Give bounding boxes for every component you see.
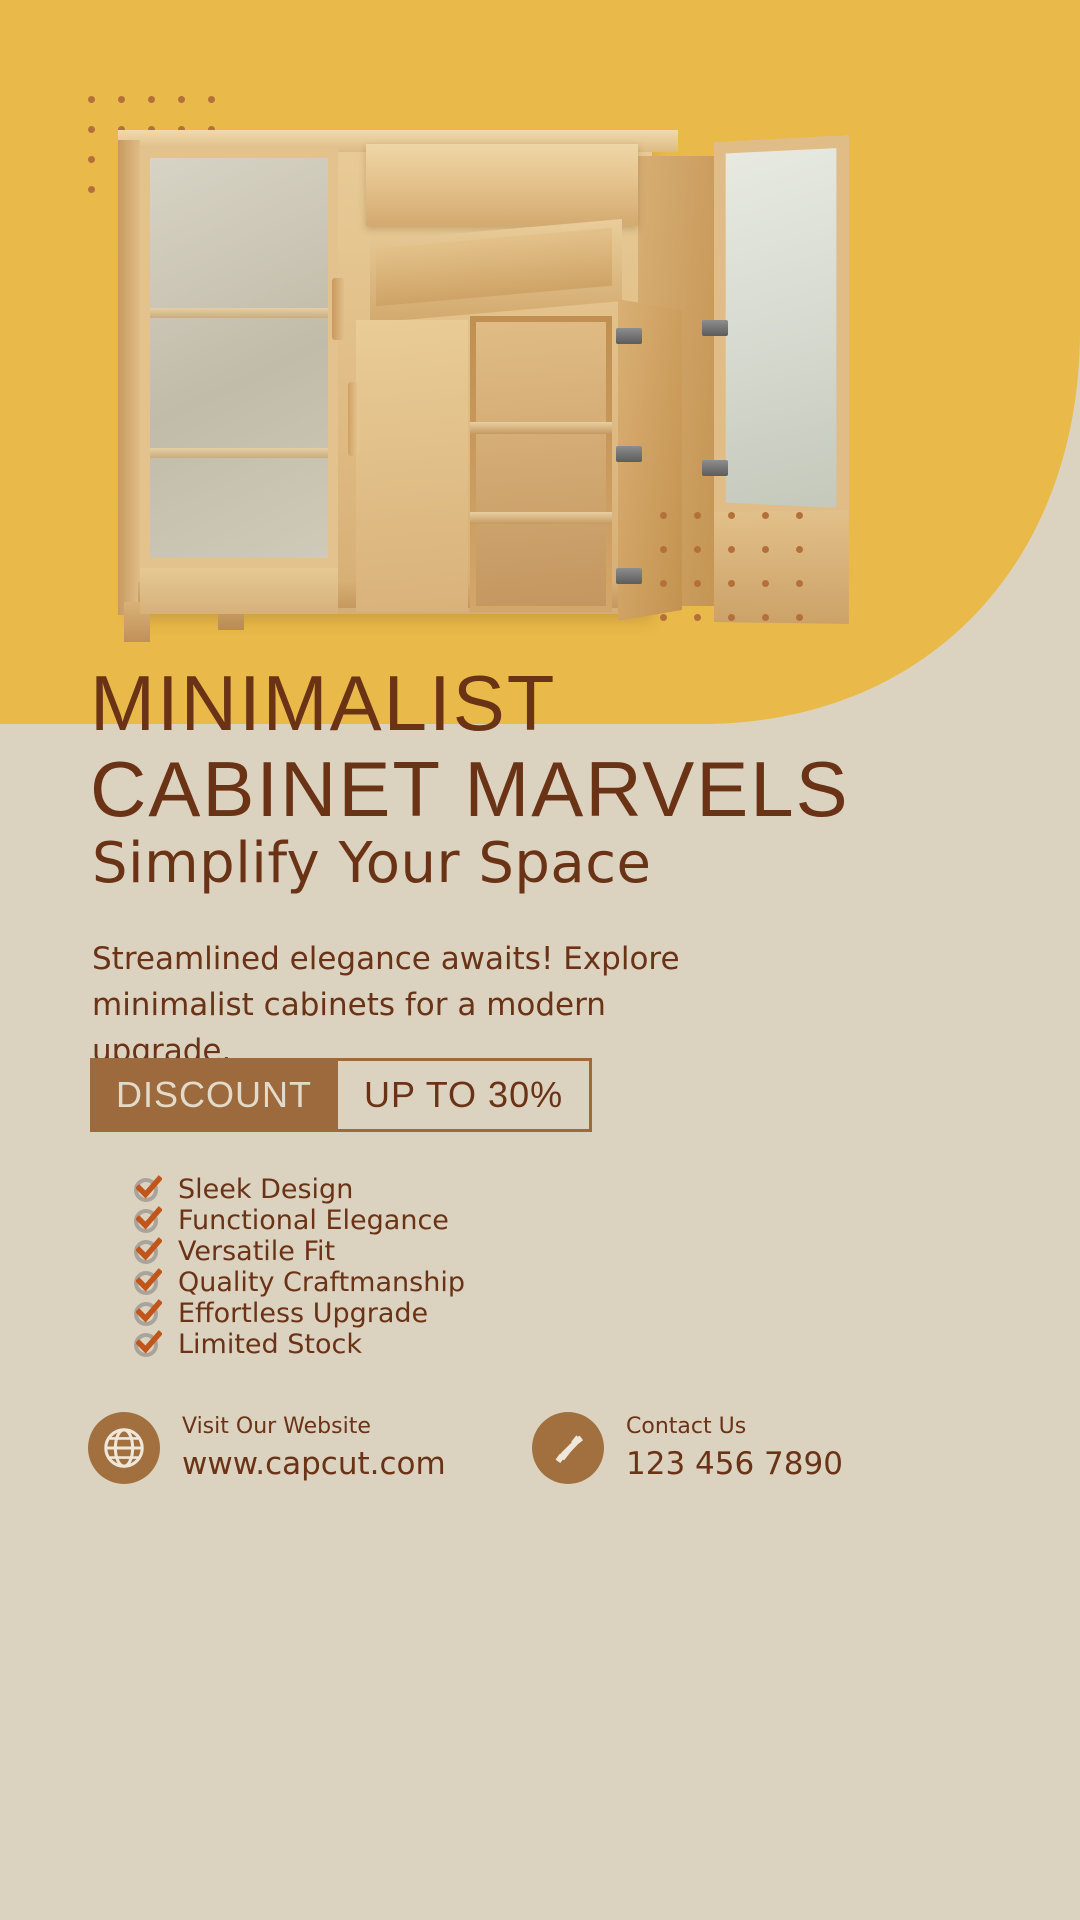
- body-copy: Streamlined elegance awaits! Explore min…: [92, 936, 732, 1074]
- headline-line-1: MINIMALIST: [90, 659, 556, 747]
- page-title: MINIMALIST CABINET MARVELS: [90, 660, 990, 832]
- globe-icon: [88, 1412, 160, 1484]
- check-circle-icon: [132, 1206, 162, 1236]
- feature-label: Versatile Fit: [178, 1236, 335, 1267]
- feature-label: Effortless Upgrade: [178, 1298, 428, 1329]
- poster-canvas: MINIMALIST CABINET MARVELS Simplify Your…: [0, 0, 1080, 1920]
- discount-badge: DISCOUNT UP TO 30%: [90, 1058, 592, 1132]
- decorative-dot-grid-bottom-right: [660, 512, 830, 648]
- website-label: Visit Our Website: [182, 1414, 371, 1439]
- cabinet-open-cavity: [470, 316, 612, 612]
- list-item: Sleek Design: [132, 1174, 465, 1205]
- discount-badge-value: UP TO 30%: [338, 1058, 592, 1132]
- phone-label: Contact Us: [626, 1414, 746, 1439]
- phone-icon: [532, 1412, 604, 1484]
- footer-contact-bar: Visit Our Website www.capcut.com Contact…: [0, 1400, 1080, 1550]
- list-item: Versatile Fit: [132, 1236, 465, 1267]
- feature-label: Sleek Design: [178, 1174, 353, 1205]
- headline-line-2: CABINET MARVELS: [90, 746, 990, 832]
- phone-number[interactable]: 123 456 7890: [626, 1444, 843, 1484]
- feature-list: Sleek Design Functional Elegance: [132, 1174, 465, 1360]
- list-item: Functional Elegance: [132, 1205, 465, 1236]
- cabinet-mirror-door: [714, 135, 849, 521]
- hero-section: [0, 0, 1080, 740]
- subheadline: Simplify Your Space: [92, 832, 652, 896]
- website-url[interactable]: www.capcut.com: [182, 1444, 446, 1484]
- list-item: Limited Stock: [132, 1329, 465, 1360]
- check-circle-icon: [132, 1268, 162, 1298]
- phone-contact-block[interactable]: Contact Us 123 456 7890: [532, 1412, 843, 1484]
- feature-label: Functional Elegance: [178, 1205, 449, 1236]
- check-circle-icon: [132, 1299, 162, 1329]
- discount-badge-label: DISCOUNT: [90, 1058, 338, 1132]
- feature-label: Limited Stock: [178, 1329, 362, 1360]
- list-item: Quality Craftmanship: [132, 1267, 465, 1298]
- cabinet-glass-door: [140, 148, 338, 568]
- website-contact-block[interactable]: Visit Our Website www.capcut.com: [88, 1412, 446, 1484]
- cabinet-drawer-top: [366, 144, 638, 226]
- check-circle-icon: [132, 1330, 162, 1360]
- list-item: Effortless Upgrade: [132, 1298, 465, 1329]
- check-circle-icon: [132, 1175, 162, 1205]
- cabinet-middle-door: [356, 320, 468, 612]
- check-circle-icon: [132, 1237, 162, 1267]
- feature-label: Quality Craftmanship: [178, 1267, 465, 1298]
